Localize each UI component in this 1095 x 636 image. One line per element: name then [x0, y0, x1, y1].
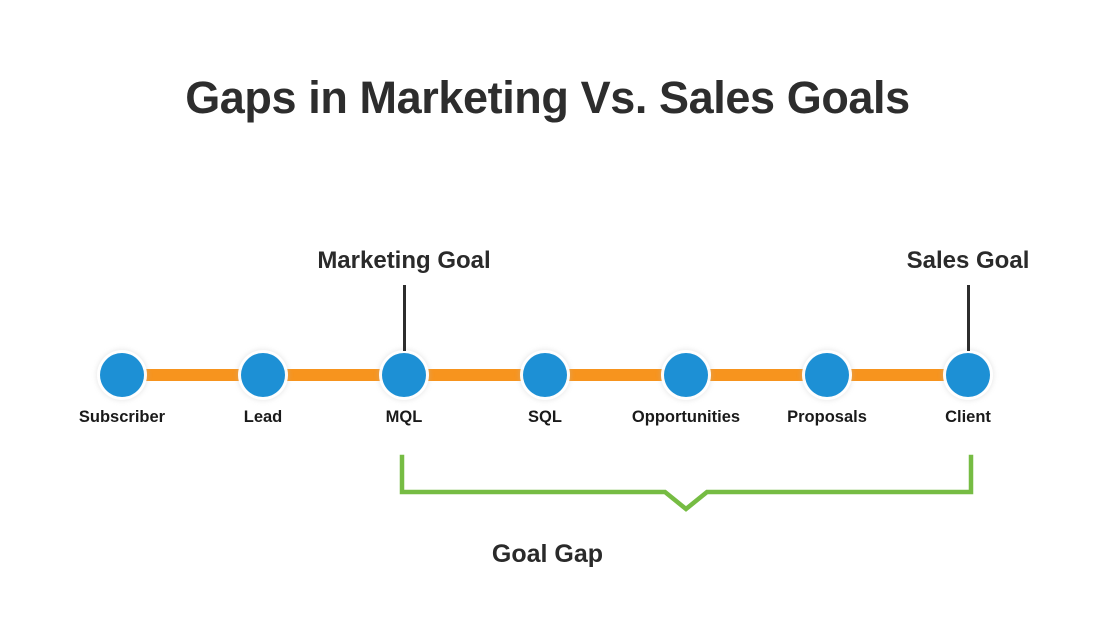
goal-gap-caption: Goal Gap: [0, 540, 1095, 569]
diagram-canvas: Gaps in Marketing Vs. Sales Goals Subscr…: [0, 0, 1095, 636]
goal-gap-bracket-path: [402, 457, 971, 509]
